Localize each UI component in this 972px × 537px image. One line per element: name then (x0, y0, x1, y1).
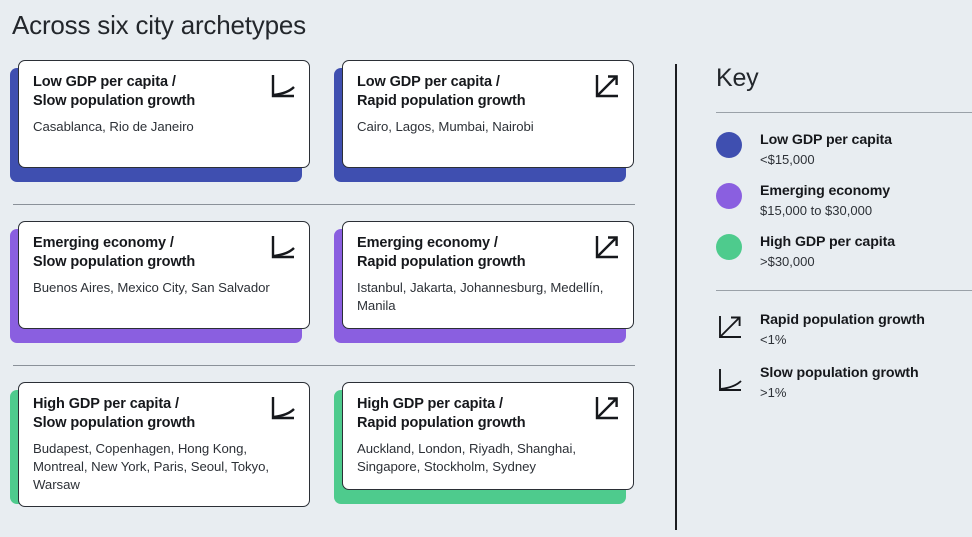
card-title: High GDP per capita / Slow population gr… (33, 395, 295, 433)
card-panel: High GDP per capita / Rapid population g… (342, 382, 634, 490)
key-item: Emerging economy $15,000 to $30,000 (716, 182, 966, 219)
key-item-label: Emerging economy (760, 182, 890, 200)
key-item-value: <1% (760, 331, 925, 348)
card-title: Emerging economy / Slow population growt… (33, 234, 295, 272)
row-divider (13, 365, 635, 366)
key-item-value: <$15,000 (760, 151, 892, 168)
key-divider (716, 112, 972, 113)
card-title: Emerging economy / Rapid population grow… (357, 234, 619, 272)
card-panel: Low GDP per capita / Slow population gro… (18, 60, 310, 168)
card-cities: Cairo, Lagos, Mumbai, Nairobi (357, 118, 619, 136)
archetype-card[interactable]: Emerging economy / Slow population growt… (10, 221, 310, 343)
rapid-growth-icon (716, 313, 744, 341)
key-divider (716, 290, 972, 291)
card-cities: Casablanca, Rio de Janeiro (33, 118, 295, 136)
rapid-growth-icon (593, 233, 621, 261)
slow-growth-icon (269, 233, 297, 261)
key-gdp-group: Low GDP per capita <$15,000 Emerging eco… (716, 131, 966, 270)
card-cities: Buenos Aires, Mexico City, San Salvador (33, 279, 295, 297)
archetype-card[interactable]: Emerging economy / Rapid population grow… (334, 221, 634, 343)
card-panel: Emerging economy / Rapid population grow… (342, 221, 634, 329)
key-item-value: $15,000 to $30,000 (760, 202, 890, 219)
key-item: Low GDP per capita <$15,000 (716, 131, 966, 168)
key-item: Rapid population growth <1% (716, 311, 966, 348)
slow-growth-icon (716, 366, 744, 394)
archetype-card[interactable]: Low GDP per capita / Rapid population gr… (334, 60, 634, 182)
key-item-label: Rapid population growth (760, 311, 925, 329)
color-swatch-icon (716, 234, 742, 260)
key-growth-group: Rapid population growth <1% Slow populat… (716, 311, 966, 401)
key-item-label: Slow population growth (760, 364, 919, 382)
card-title: Low GDP per capita / Rapid population gr… (357, 73, 619, 111)
card-title: High GDP per capita / Rapid population g… (357, 395, 619, 433)
rapid-growth-icon (593, 72, 621, 100)
key-item-label: High GDP per capita (760, 233, 895, 251)
row-divider (13, 204, 635, 205)
color-swatch-icon (716, 183, 742, 209)
key-item: Slow population growth >1% (716, 364, 966, 401)
card-panel: High GDP per capita / Slow population gr… (18, 382, 310, 507)
card-grid: Low GDP per capita / Slow population gro… (0, 60, 660, 537)
card-panel: Low GDP per capita / Rapid population gr… (342, 60, 634, 168)
key-item-label: Low GDP per capita (760, 131, 892, 149)
key-title: Key (716, 62, 966, 94)
card-cities: Budapest, Copenhagen, Hong Kong, Montrea… (33, 440, 295, 494)
page-title: Across six city archetypes (12, 8, 306, 42)
slow-growth-icon (269, 72, 297, 100)
vertical-divider (675, 64, 677, 530)
key-item: High GDP per capita >$30,000 (716, 233, 966, 270)
key-item-value: >1% (760, 384, 919, 401)
key-panel: Key Low GDP per capita <$15,000 Emerging… (716, 62, 966, 417)
card-title: Low GDP per capita / Slow population gro… (33, 73, 295, 111)
slow-growth-icon (269, 394, 297, 422)
archetype-card[interactable]: Low GDP per capita / Slow population gro… (10, 60, 310, 182)
key-item-value: >$30,000 (760, 253, 895, 270)
archetype-card[interactable]: High GDP per capita / Slow population gr… (10, 382, 310, 504)
card-panel: Emerging economy / Slow population growt… (18, 221, 310, 329)
archetype-card[interactable]: High GDP per capita / Rapid population g… (334, 382, 634, 504)
color-swatch-icon (716, 132, 742, 158)
rapid-growth-icon (593, 394, 621, 422)
card-cities: Auckland, London, Riyadh, Shanghai, Sing… (357, 440, 619, 476)
card-cities: Istanbul, Jakarta, Johannesburg, Medellí… (357, 279, 619, 315)
